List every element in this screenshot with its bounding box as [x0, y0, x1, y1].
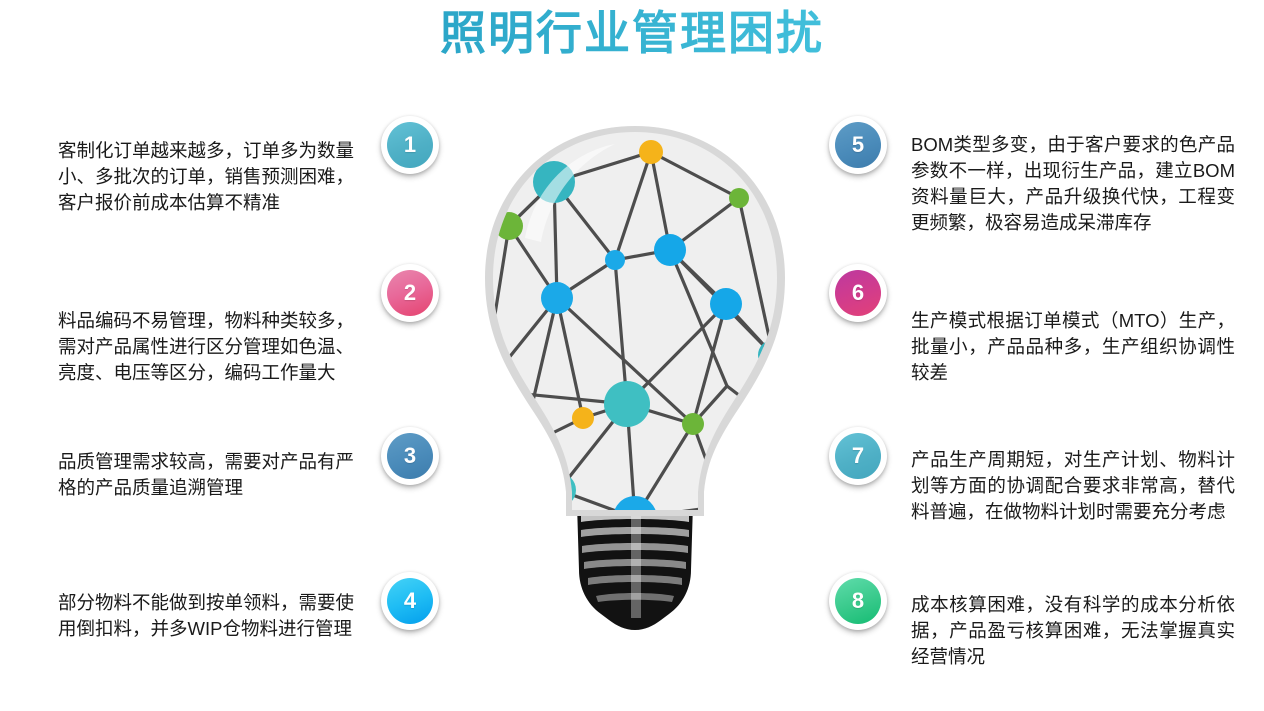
network-node	[541, 282, 573, 314]
network-node	[513, 439, 531, 457]
network-node	[738, 569, 760, 591]
network-node	[605, 250, 625, 270]
network-node	[476, 509, 518, 551]
page-title: 照明行业管理困扰	[0, 2, 1264, 64]
note-2: 料品编码不易管理，物料种类较多，需对产品属性进行区分管理如色温、亮度、电压等区分…	[58, 308, 354, 386]
network-node	[710, 288, 742, 320]
note-4: 部分物料不能做到按单领料，需要使用倒扣料，并多WIP仓物料进行管理	[58, 590, 354, 642]
badge-number-6: 6	[835, 270, 881, 316]
note-8: 成本核算困难，没有科学的成本分析依据，产品盈亏核算困难，无法掌握真实经营情况	[911, 592, 1235, 670]
network-node	[572, 407, 594, 429]
network-node	[757, 404, 801, 448]
note-6: 生产模式根据订单模式（MTO）生产，批量小，产品品种多，生产组织协调性较差	[911, 308, 1235, 386]
note-5: BOM类型多变，由于客户要求的色产品参数不一样，出现衍生产品，建立BOM资料量巨…	[911, 132, 1235, 236]
badge-number-5: 5	[835, 122, 881, 168]
badge-1[interactable]: 1	[381, 116, 439, 174]
badge-number-8: 8	[835, 578, 881, 624]
badge-6[interactable]: 6	[829, 264, 887, 322]
badge-number-4: 4	[387, 578, 433, 624]
network-node	[707, 490, 739, 522]
note-3: 品质管理需求较高，需要对产品有严格的产品质量追溯管理	[58, 449, 354, 501]
lightbulb-illustration	[455, 118, 815, 638]
bulb-base	[577, 504, 693, 630]
badge-2[interactable]: 2	[381, 264, 439, 322]
badge-number-7: 7	[835, 433, 881, 479]
note-7: 产品生产周期短，对生产计划、物料计划等方面的协调配合要求非常高，替代料普遍，在做…	[911, 447, 1235, 525]
badge-number-1: 1	[387, 122, 433, 168]
network-node	[682, 413, 704, 435]
network-node	[604, 381, 650, 427]
badge-8[interactable]: 8	[829, 572, 887, 630]
network-node	[729, 188, 749, 208]
infographic-canvas: 照明行业管理困扰	[0, 0, 1264, 711]
badge-number-2: 2	[387, 270, 433, 316]
badge-5[interactable]: 5	[829, 116, 887, 174]
network-node	[688, 604, 720, 636]
network-node	[469, 376, 497, 404]
badge-3[interactable]: 3	[381, 427, 439, 485]
badge-number-3: 3	[387, 433, 433, 479]
network-node	[711, 624, 739, 638]
network-node	[654, 234, 686, 266]
badge-7[interactable]: 7	[829, 427, 887, 485]
network-node	[639, 140, 663, 164]
badge-4[interactable]: 4	[381, 572, 439, 630]
note-1: 客制化订单越来越多，订单多为数量小、多批次的订单，销售预测困难，客户报价前成本估…	[58, 138, 354, 216]
network-node	[550, 573, 580, 603]
